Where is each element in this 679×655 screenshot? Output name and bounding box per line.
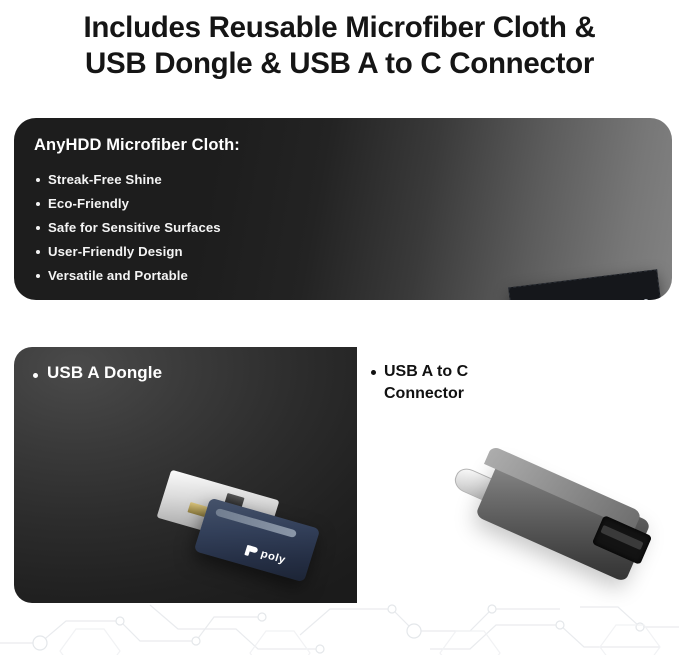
dongle-label: USB A Dongle (47, 363, 162, 383)
list-item-label: Safe for Sensitive Surfaces (48, 216, 221, 240)
bullet-dot-icon (36, 178, 40, 182)
list-item-label: Versatile and Portable (48, 264, 188, 288)
microfiber-cloth-image: ANYHDD (506, 270, 672, 300)
dongle-body (194, 498, 321, 583)
cloth-panel-title: AnyHDD Microfiber Cloth: (34, 136, 240, 155)
list-item: Eco-Friendly (36, 192, 221, 216)
list-item: Streak-Free Shine (36, 168, 221, 192)
circuit-pattern-icon (0, 595, 679, 655)
microfiber-cloth-panel: AnyHDD Microfiber Cloth: Streak-Free Shi… (14, 118, 672, 300)
usb-dongle-image: poly (154, 477, 344, 597)
list-item-label: Eco-Friendly (48, 192, 129, 216)
bullet-dot-icon (36, 202, 40, 206)
headline-line-2: USB Dongle & USB A to C Connector (85, 46, 594, 82)
poly-mark-icon (244, 544, 258, 557)
list-item: Safe for Sensitive Surfaces (36, 216, 221, 240)
list-item-label: User-Friendly Design (48, 240, 183, 264)
dongle-heading: USB A Dongle (33, 363, 162, 383)
connector-heading: USB A to C Connector (371, 361, 514, 405)
headline-line-1: Includes Reusable Microfiber Cloth & (83, 10, 595, 46)
cloth-swatch: ANYHDD (508, 269, 670, 300)
usb-a-to-c-connector-panel: USB A to C Connector (357, 347, 679, 603)
product-feature-graphic: Includes Reusable Microfiber Cloth & USB… (0, 0, 679, 655)
cloth-branding: ANYHDD (509, 270, 668, 300)
list-item: User-Friendly Design (36, 240, 221, 264)
connector-label: USB A to C Connector (384, 361, 514, 405)
bullet-dot-icon (36, 274, 40, 278)
list-item-label: Streak-Free Shine (48, 168, 162, 192)
bullet-dot-icon (33, 373, 38, 378)
usb-adapter-image (452, 467, 667, 592)
bullet-dot-icon (371, 370, 376, 375)
list-item: Versatile and Portable (36, 264, 221, 288)
bullet-dot-icon (36, 226, 40, 230)
usb-a-dongle-panel: USB A Dongle poly (14, 347, 357, 603)
circuit-trace-decoration (509, 270, 671, 300)
circuit-watermark (0, 595, 679, 655)
page-title: Includes Reusable Microfiber Cloth & USB… (0, 0, 679, 92)
cloth-feature-list: Streak-Free Shine Eco-Friendly Safe for … (36, 168, 221, 288)
bullet-dot-icon (36, 250, 40, 254)
